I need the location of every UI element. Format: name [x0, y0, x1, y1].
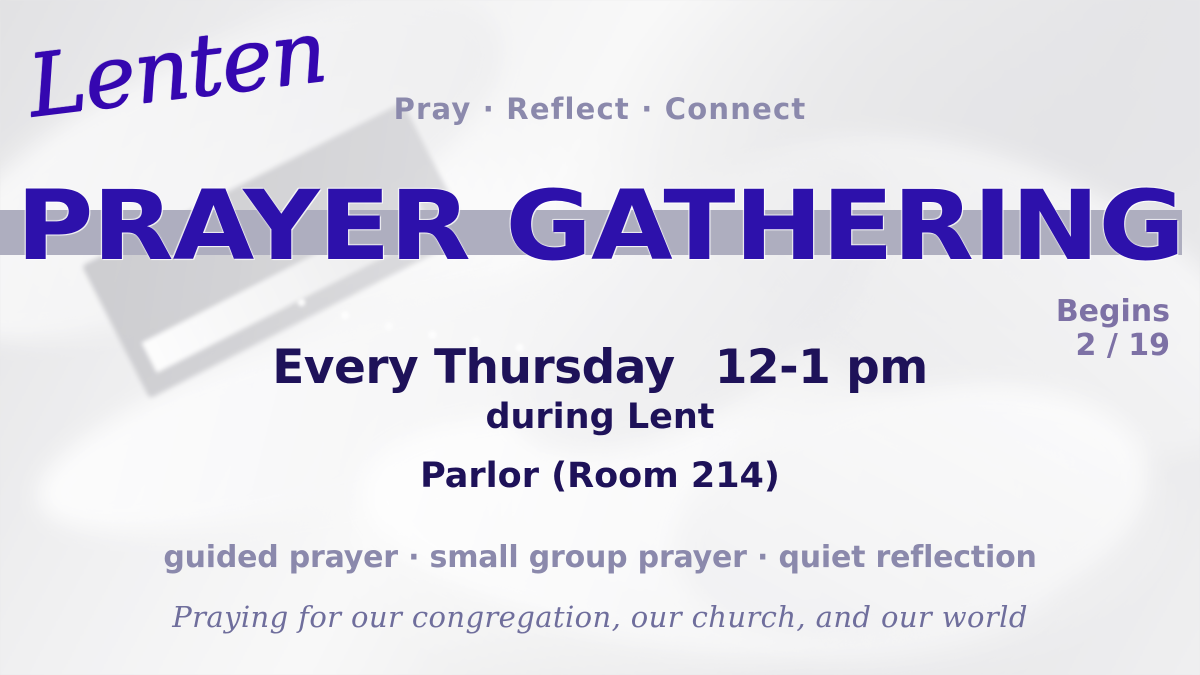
season-note: during Lent	[0, 396, 1200, 439]
begins-label: Begins	[1056, 295, 1170, 329]
page-title: PRAYER GATHERING	[0, 176, 1200, 278]
event-details: Every Thursday12-1 pm during Lent Parlor…	[0, 342, 1200, 497]
schedule-line: Every Thursday12-1 pm	[0, 342, 1200, 394]
tagline: Pray · Reflect · Connect	[0, 92, 1200, 126]
schedule-time: 12-1 pm	[715, 340, 928, 395]
poster-content: Lenten Pray · Reflect · Connect PRAYER G…	[0, 0, 1200, 675]
features-list: guided prayer · small group prayer · qui…	[0, 540, 1200, 575]
location-line: Parlor (Room 214)	[0, 455, 1200, 497]
closing-script-line: Praying for our congregation, our church…	[0, 600, 1200, 634]
poster-canvas: Lenten Pray · Reflect · Connect PRAYER G…	[0, 0, 1200, 675]
schedule-day: Every Thursday	[272, 340, 674, 395]
